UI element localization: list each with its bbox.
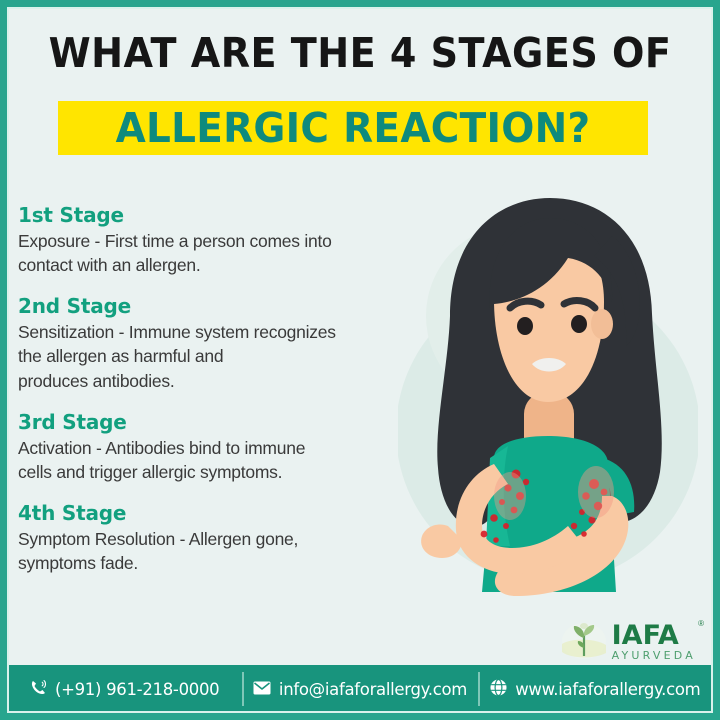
footer-phone-cell[interactable]: (+91) 961-218-0000 — [7, 665, 242, 713]
envelope-icon — [253, 680, 271, 699]
iafa-logo: IAFA ® AYURVEDA — [561, 620, 696, 662]
footer-website-text: www.iafaforallergy.com — [515, 680, 700, 699]
stage-title: 1st Stage — [18, 203, 418, 227]
stage-description: Activation - Antibodies bind to immune c… — [18, 436, 418, 484]
poster-title: WHAT ARE THE 4 STAGES OF — [0, 32, 720, 75]
illustration-woman-with-rash — [398, 196, 698, 616]
stage-item: 4th Stage Symptom Resolution - Allergen … — [18, 501, 418, 575]
logo-wordmark: IAFA ® AYURVEDA — [612, 622, 696, 661]
stage-description: Symptom Resolution - Allergen gone, symp… — [18, 527, 418, 575]
contact-footer-bar: (+91) 961-218-0000 info@iafaforallergy.c… — [7, 665, 713, 713]
phone-icon — [30, 679, 47, 700]
stages-list: 1st Stage Exposure - First time a person… — [18, 203, 418, 592]
stage-item: 3rd Stage Activation - Antibodies bind t… — [18, 410, 418, 484]
registered-mark: ® — [698, 620, 704, 628]
footer-email-cell[interactable]: info@iafaforallergy.com — [242, 665, 477, 713]
footer-phone-text: (+91) 961-218-0000 — [55, 680, 219, 699]
logo-subtitle: AYURVEDA — [612, 650, 696, 661]
logo-name: IAFA — [612, 620, 679, 651]
stage-description: Sensitization - Immune system recognizes… — [18, 320, 418, 392]
plant-emblem-icon — [561, 620, 607, 662]
stage-description: Exposure - First time a person comes int… — [18, 229, 418, 277]
stage-title: 3rd Stage — [18, 410, 418, 434]
stage-title: 4th Stage — [18, 501, 418, 525]
stage-title: 2nd Stage — [18, 294, 418, 318]
title-line-2: ALLERGIC REACTION? — [73, 101, 634, 155]
globe-icon — [490, 679, 507, 700]
stage-item: 1st Stage Exposure - First time a person… — [18, 203, 418, 277]
infographic-poster: WHAT ARE THE 4 STAGES OF ALLERGIC REACTI… — [0, 0, 720, 720]
footer-email-text: info@iafaforallergy.com — [279, 680, 467, 699]
footer-website-cell[interactable]: www.iafaforallergy.com — [478, 665, 713, 713]
title-line-1: WHAT ARE THE 4 STAGES OF — [25, 32, 695, 75]
stage-item: 2nd Stage Sensitization - Immune system … — [18, 294, 418, 392]
